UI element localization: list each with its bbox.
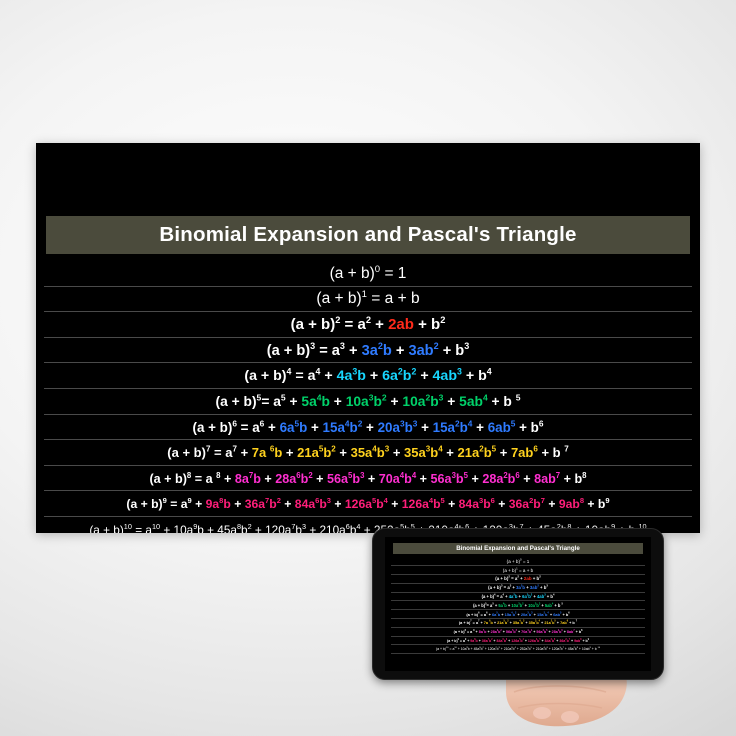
exponent: 3 (464, 341, 469, 351)
term: 8a (235, 472, 249, 486)
term: = a (237, 420, 260, 435)
term: (a + b) (507, 559, 520, 564)
equation-text: (a + b)4 = a4 + 4a3b + 6a2b2 + 4ab3 + b4 (244, 368, 491, 384)
exponent: 6 (539, 418, 544, 428)
term: b (319, 497, 326, 511)
term: (a + b) (89, 523, 123, 533)
equation-text: (a + b)0 = 1 (330, 265, 407, 283)
term: + (545, 497, 559, 511)
exponent: 8 (582, 470, 586, 479)
term: + (362, 420, 377, 435)
term: + b (515, 420, 538, 435)
term: 4ab (433, 368, 457, 384)
exponent: 2 (440, 315, 445, 325)
term: + b (568, 621, 576, 625)
term: 28a (275, 472, 296, 486)
term: (a + b) (488, 585, 501, 590)
term: (a + b) (330, 265, 375, 282)
phone-equation-row: (a + b)10 = a10 + 10a9b + 45a8b2 + 120a7… (385, 645, 651, 654)
term: + (392, 343, 409, 359)
phone-equation-text: (a + b)8 = a 8 + 8a7b + 28a6b2 + 56a5b3 … (454, 630, 583, 634)
term: + b (584, 497, 605, 511)
phone-equation-row: (a + b)4 = a4 + 4a3b + 6a2b2 + 4ab3 + b4 (385, 592, 651, 601)
phone-equation-text: (a + b)5= a5 + 5a4b + 10a3b2 + 10a2b3 + … (473, 603, 563, 608)
term: 15a (537, 612, 544, 617)
term: + 252a (516, 647, 528, 651)
term: 3a (362, 343, 378, 359)
phone-equation-row: (a + b)9 = a9 + 9a8b + 36a7b2 + 84a6b3 +… (385, 636, 651, 645)
equation-text: (a + b)6 = a6 + 6a5b + 15a4b2 + 20a3b3 +… (193, 420, 544, 435)
term: + (443, 394, 459, 409)
phone-equation-text: (a + b)0 = 1 (507, 559, 530, 564)
term: b (430, 445, 438, 460)
term: + (192, 497, 206, 511)
term: (a + b) (459, 621, 470, 625)
exponent: 9 (605, 496, 609, 505)
term: = a + b (518, 568, 533, 573)
term: + b (591, 647, 598, 651)
equation-row: (a + b)4 = a4 + 4a3b + 6a2b2 + 4ab3 + b4 (36, 363, 700, 389)
term: b (483, 497, 490, 511)
term: 126a (511, 639, 519, 643)
term: 6a (382, 368, 398, 384)
term: b (533, 497, 540, 511)
term: (a + b) (466, 612, 478, 617)
term: + (231, 497, 245, 511)
term: + (417, 420, 432, 435)
term: (a + b) (126, 497, 162, 511)
equation-row: (a + b)0 = 1 (36, 261, 700, 287)
term: + (472, 420, 487, 435)
term: 15a (433, 420, 455, 435)
term: = a (132, 523, 152, 533)
exponent: 5 (562, 603, 563, 606)
term: + (220, 472, 234, 486)
term: (a + b) (149, 472, 186, 486)
phone-equation-text: (a + b)7 = a7 + 7a 6b + 21a5b2 + 35a4b3 … (459, 621, 577, 625)
term: (a + b) (495, 576, 508, 581)
term: + b (488, 394, 516, 409)
phone-equation-row: (a + b)1 = a + b (385, 566, 651, 575)
term: + (389, 445, 404, 460)
term: (a + b) (316, 290, 361, 307)
term: + b (553, 603, 561, 608)
exponent: 4 (553, 594, 554, 597)
phone-equation-list: (a + b)0 = 1(a + b)1 = a + b(a + b)2 = a… (385, 557, 651, 654)
term: 5ab (459, 394, 483, 409)
exponent: 10 (598, 647, 600, 649)
term: + (364, 472, 378, 486)
term: + (387, 394, 403, 409)
term: + (416, 472, 430, 486)
term: 2ab (524, 576, 532, 581)
term: 126a (345, 497, 372, 511)
term: + 120a (484, 647, 496, 651)
term: + (281, 497, 295, 511)
term: b (405, 420, 413, 435)
term: b (460, 420, 468, 435)
term: b (350, 420, 358, 435)
term: b + 45a (197, 523, 237, 533)
term: 56a (431, 472, 452, 486)
term: (a + b) (436, 647, 446, 651)
exponent: 5 (516, 393, 521, 403)
phone-equation-text: (a + b)3 = a3 + 3a2b + 3ab2 + b3 (488, 585, 548, 590)
term: + b (560, 472, 582, 486)
term: 28a (482, 472, 503, 486)
phone-equation-text: (a + b)9 = a9 + 9a8b + 36a7b2 + 84a6b3 +… (447, 639, 589, 643)
term: 9a (206, 497, 220, 511)
exponent: 8 (581, 630, 582, 632)
equation-row: (a + b)1 = a + b (36, 287, 700, 313)
term: + (261, 472, 275, 486)
phone-equation-row: (a + b)0 = 1 (385, 557, 651, 566)
term: 5ab (545, 603, 552, 608)
equation-text: (a + b)8 = a 8 + 8a7b + 28a6b2 + 56a5b3 … (149, 472, 586, 486)
term: + (237, 445, 252, 460)
term: 35a (404, 445, 426, 460)
term: = a (291, 368, 315, 384)
term: (a + b) (216, 394, 257, 409)
equation-row: (a + b)9 = a9 + 9a8b + 36a7b2 + 84a6b3 +… (36, 491, 700, 517)
term: b (322, 394, 330, 409)
term: + (336, 445, 351, 460)
term: + 120a (252, 523, 292, 533)
equation-row: (a + b)8 = a 8 + 8a7b + 28a6b2 + 56a5b3 … (36, 466, 700, 492)
term: + (313, 472, 327, 486)
exponent: 7 (564, 445, 568, 454)
term: 9ab (559, 497, 580, 511)
phone-equation-row: (a + b)8 = a 8 + 8a7b + 28a6b2 + 56a5b3 … (385, 627, 651, 636)
term: b (383, 343, 392, 359)
term: 3ab (408, 343, 433, 359)
equation-row: (a + b)5= a5 + 5a4b + 10a3b2 + 10a2b3 + … (36, 389, 700, 415)
phone-equation-row: (a + b)6 = a6 + 6a5b + 15a4b2 + 20a3b3 +… (385, 610, 651, 619)
term: + b (439, 343, 465, 359)
term: 21a (297, 445, 319, 460)
term: + (445, 497, 459, 511)
term: 126a (528, 639, 536, 643)
phone-screen[interactable]: Binomial Expansion and Pascal's Triangle… (385, 537, 651, 671)
term: + (416, 368, 432, 384)
term: 2ab (388, 316, 414, 333)
term: b (433, 497, 440, 511)
term: + b (546, 594, 553, 599)
term: + b (414, 316, 440, 333)
term: (a + b) (167, 445, 206, 460)
equation-text: (a + b)3 = a3 + 3a2b + 3ab2 + b3 (267, 343, 470, 359)
term: 8ab (534, 472, 556, 486)
term: + 120a (548, 647, 560, 651)
term: b (376, 497, 383, 511)
term: (a + b) (267, 343, 310, 359)
term: + (495, 497, 509, 511)
exponent: 10 (152, 522, 160, 531)
term: = a (191, 472, 216, 486)
exponent: 3 (546, 585, 547, 588)
term: + 10a (160, 523, 193, 533)
term: + (371, 316, 388, 333)
term: 10a (528, 603, 535, 608)
equation-row: (a + b)2 = a2 + 2ab + b2 (36, 312, 700, 338)
term: b + 45a (468, 647, 480, 651)
term: 36a (245, 497, 265, 511)
equation-row: (a + b)3 = a3 + 3a2b + 3ab2 + b3 (36, 338, 700, 364)
term: 20a (378, 420, 400, 435)
term: + (496, 445, 511, 460)
phone-equation-row: (a + b)7 = a7 + 7a 6b + 21a5b2 + 35a4b3 … (385, 619, 651, 628)
term: 10a (346, 394, 369, 409)
term: (a + b) (447, 639, 458, 643)
term: + 210a (306, 523, 346, 533)
term: 15a (323, 420, 345, 435)
term: + 210a (500, 647, 512, 651)
term: 7ab (511, 445, 533, 460)
term: (a + b) (503, 568, 516, 573)
poster-title-bar: Binomial Expansion and Pascal's Triangle (46, 216, 690, 254)
term: + (286, 394, 302, 409)
phone-equation-text: (a + b)6 = a6 + 6a5b + 15a4b2 + 20a3b3 +… (466, 612, 569, 617)
term: (a + b) (291, 316, 336, 333)
term: (a + b) (482, 594, 494, 599)
term: 10a (402, 394, 425, 409)
term: (a + b) (473, 603, 485, 608)
term: + (443, 445, 458, 460)
term: b (430, 394, 438, 409)
phone-equation-text: (a + b)10 = a10 + 10a9b + 45a8b2 + 120a7… (436, 647, 600, 651)
term: = a (502, 585, 509, 590)
term: + (345, 343, 362, 359)
term: + (320, 368, 336, 384)
term: 56a (327, 472, 348, 486)
term: 6a (280, 420, 295, 435)
equation-text: (a + b)1 = a + b (316, 290, 419, 308)
term: + (331, 497, 345, 511)
term: + 10a (457, 647, 467, 651)
term: + (468, 472, 482, 486)
exponent: 9 (588, 638, 589, 640)
term: + 210a (532, 647, 544, 651)
term: + (330, 394, 346, 409)
term: = a (167, 497, 188, 511)
term: + 45a (564, 647, 574, 651)
term: = a (495, 594, 502, 599)
term: + (388, 497, 402, 511)
exponent: 4 (487, 366, 492, 376)
term: + (366, 368, 382, 384)
equation-text: (a + b)2 = a2 + 2ab + b2 (291, 316, 446, 333)
phone-title-bar: Binomial Expansion and Pascal's Triangle (393, 543, 643, 554)
term: = a + b (367, 290, 420, 307)
term: (a + b) (454, 630, 465, 634)
page-title: Binomial Expansion and Pascal's Triangle (159, 223, 576, 247)
term: b (373, 394, 381, 409)
term: + 10ab (578, 647, 590, 651)
term: b (223, 497, 230, 511)
term: 35a (351, 445, 373, 460)
term: 36a (509, 497, 529, 511)
term: b (253, 472, 261, 486)
term: (a + b) (244, 368, 286, 384)
equation-text: (a + b)7 = a7 + 7a 6b + 21a5b2 + 35a4b3 … (167, 445, 568, 460)
term: + (520, 472, 534, 486)
term: 6ab (488, 420, 511, 435)
term: b (377, 445, 385, 460)
term: 126a (402, 497, 429, 511)
term: + (264, 420, 279, 435)
term: = a (210, 445, 232, 460)
phone-device[interactable]: Binomial Expansion and Pascal's Triangle… (372, 528, 664, 680)
equation-list: (a + b)0 = 1(a + b)1 = a + b(a + b)2 = a… (36, 261, 700, 533)
term: 21a (458, 445, 480, 460)
exponent: 7 (576, 620, 577, 623)
term: + (307, 420, 322, 435)
phone-equation-text: (a + b)4 = a4 + 4a3b + 6a2b2 + 4ab3 + b4 (482, 594, 555, 599)
phone-equation-row: (a + b)2 = a2 + 2ab + b2 (385, 575, 651, 584)
term: 70a (379, 472, 400, 486)
equation-row: (a + b)7 = a7 + 7a 6b + 21a5b2 + 35a4b3 … (36, 440, 700, 466)
phone-equation-text: (a + b)2 = a2 + 2ab + b2 (495, 576, 541, 581)
term: = a (340, 316, 365, 333)
term: b (404, 472, 412, 486)
exponent: 2 (539, 576, 541, 579)
term: + (282, 445, 297, 460)
poster: Binomial Expansion and Pascal's Triangle… (36, 143, 700, 533)
term: + b (538, 445, 564, 460)
term: 6ab (553, 612, 560, 617)
term: = 1 (522, 559, 530, 564)
term: + b (462, 368, 487, 384)
term: 4a (337, 368, 353, 384)
term: b (456, 472, 464, 486)
term: 84a (295, 497, 315, 511)
phone-equation-row: (a + b)5= a5 + 5a4b + 10a3b2 + 10a2b3 + … (385, 601, 651, 610)
term: b (357, 368, 366, 384)
term: b (484, 445, 492, 460)
term: 84a (459, 497, 479, 511)
equation-row: (a + b)6 = a6 + 6a5b + 15a4b2 + 20a3b3 +… (36, 415, 700, 441)
term: = a (261, 394, 281, 409)
exponent: 10 (124, 522, 132, 531)
term: b (352, 472, 360, 486)
term: 5a (301, 394, 316, 409)
phone-title-text: Binomial Expansion and Pascal's Triangle (456, 545, 580, 552)
equation-text: (a + b)5= a5 + 5a4b + 10a3b2 + 10a2b3 + … (216, 394, 521, 409)
term: = a (315, 343, 340, 359)
equation-text: (a + b)9 = a9 + 9a8b + 36a7b2 + 84a6b3 +… (126, 497, 609, 511)
term: (a + b) (193, 420, 233, 435)
phone-equation-row: (a + b)3 = a3 + 3a2b + 3ab2 + b3 (385, 583, 651, 592)
phone-equation-text: (a + b)1 = a + b (503, 568, 533, 573)
term: b (269, 497, 276, 511)
exponent: 6 (568, 611, 569, 614)
term: 7ab (560, 621, 567, 625)
term: = 1 (380, 265, 406, 282)
term: 7a (252, 445, 270, 460)
